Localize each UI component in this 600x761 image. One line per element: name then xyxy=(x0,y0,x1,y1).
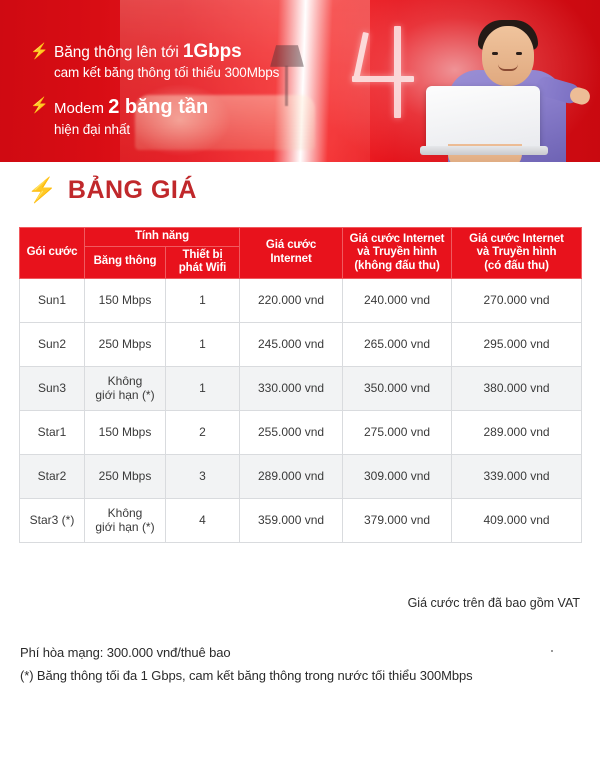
bullet-1-line-2: cam kết băng thông tối thiểu 300Mbps xyxy=(54,63,279,82)
bullet-1-strong: 1Gbps xyxy=(183,41,242,62)
cell-price-internet: 220.000 vnd xyxy=(240,278,343,322)
bullet-2-prefix: Modem xyxy=(54,100,108,117)
banner-bullet-2: ⚡ Modem 2 băng tần hiện đại nhất xyxy=(30,96,330,139)
header-price-internet-line-2: Internet xyxy=(242,253,340,267)
bolt-icon: ⚡ xyxy=(30,98,44,114)
table-row: Sun1150 Mbps1220.000 vnd240.000 vnd270.0… xyxy=(20,278,582,322)
header-wifi-device-line-1: Thiết bị xyxy=(168,249,237,263)
bullet-2-line-2: hiện đại nhất xyxy=(54,120,208,139)
header-price-tv-no-line-3: (không đấu thu) xyxy=(345,260,449,274)
cell-bandwidth: 150 Mbps xyxy=(85,410,166,454)
cell-price-internet: 289.000 vnd xyxy=(240,454,343,498)
cell-price-tv-no-fee: 275.000 vnd xyxy=(343,410,452,454)
banner-bullet-1: ⚡ Băng thông lên tới 1Gbps cam kết băng … xyxy=(30,42,330,82)
bullet-1-line-1: Băng thông lên tới 1Gbps xyxy=(54,42,279,63)
laptop-base-shape xyxy=(420,146,548,155)
header-wifi-device-line-2: phát Wifi xyxy=(168,262,237,276)
section-title-row: ⚡ BẢNG GIÁ xyxy=(27,176,197,205)
eye-right xyxy=(516,52,522,55)
header-wifi-device: Thiết bị phát Wifi xyxy=(166,246,240,278)
footer-notes: Phí hòa mạng: 300.000 vnđ/thuê bao (*) B… xyxy=(20,641,580,687)
cell-price-internet: 330.000 vnd xyxy=(240,366,343,410)
cell-wifi-device: 2 xyxy=(166,410,240,454)
header-row-1: Gói cước Tính năng Giá cước Internet Giá… xyxy=(20,228,582,247)
cell-wifi-device: 1 xyxy=(166,322,240,366)
cell-price-tv-with-fee: 380.000 vnd xyxy=(452,366,582,410)
header-price-tv-no-fee: Giá cước Internet và Truyền hình (không … xyxy=(343,228,452,279)
header-package: Gói cước xyxy=(20,228,85,279)
cell-wifi-device: 1 xyxy=(166,366,240,410)
cell-bandwidth: 250 Mbps xyxy=(85,322,166,366)
cell-price-tv-with-fee: 339.000 vnd xyxy=(452,454,582,498)
cell-bandwidth: Khônggiới hạn (*) xyxy=(85,366,166,410)
vat-note: Giá cước trên đã bao gồm VAT xyxy=(408,596,580,610)
table-row: Star1150 Mbps2255.000 vnd275.000 vnd289.… xyxy=(20,410,582,454)
cell-bandwidth-line-2: giới hạn (*) xyxy=(87,520,163,534)
header-price-internet-line-1: Giá cước xyxy=(242,239,340,253)
cell-price-tv-no-fee: 379.000 vnd xyxy=(343,498,452,542)
cell-price-tv-no-fee: 309.000 vnd xyxy=(343,454,452,498)
cell-package: Star1 xyxy=(20,410,85,454)
cell-price-tv-no-fee: 240.000 vnd xyxy=(343,278,452,322)
footer-note-1: Phí hòa mạng: 300.000 vnđ/thuê bao xyxy=(20,641,580,664)
header-price-internet: Giá cước Internet xyxy=(240,228,343,279)
promo-banner: ⚡ Băng thông lên tới 1Gbps cam kết băng … xyxy=(0,0,600,162)
bolt-icon: ⚡ xyxy=(30,44,44,60)
table-row: Star2250 Mbps3289.000 vnd309.000 vnd339.… xyxy=(20,454,582,498)
table-row: Sun3Khônggiới hạn (*)1330.000 vnd350.000… xyxy=(20,366,582,410)
header-price-tv-no-line-2: và Truyền hình xyxy=(345,246,449,260)
cell-bandwidth-line-1: Không xyxy=(87,506,163,520)
header-price-tv-yes-line-3: (có đấu thu) xyxy=(454,260,579,274)
header-price-tv-with-fee: Giá cước Internet và Truyền hình (có đấu… xyxy=(452,228,582,279)
cell-price-tv-with-fee: 289.000 vnd xyxy=(452,410,582,454)
header-price-tv-yes-line-2: và Truyền hình xyxy=(454,246,579,260)
cell-wifi-device: 3 xyxy=(166,454,240,498)
cell-package: Sun1 xyxy=(20,278,85,322)
cell-bandwidth: Khônggiới hạn (*) xyxy=(85,498,166,542)
bullet-1-prefix: Băng thông lên tới xyxy=(54,44,183,61)
cell-price-tv-with-fee: 409.000 vnd xyxy=(452,498,582,542)
cell-bandwidth: 150 Mbps xyxy=(85,278,166,322)
cell-price-tv-no-fee: 350.000 vnd xyxy=(343,366,452,410)
cell-price-tv-with-fee: 270.000 vnd xyxy=(452,278,582,322)
bullet-2-line-1: Modem 2 băng tần xyxy=(54,96,208,120)
bolt-icon: ⚡ xyxy=(27,179,57,203)
table-row: Sun2250 Mbps1245.000 vnd265.000 vnd295.0… xyxy=(20,322,582,366)
eye-left xyxy=(492,52,498,55)
cell-wifi-device: 1 xyxy=(166,278,240,322)
banner-bullet-list: ⚡ Băng thông lên tới 1Gbps cam kết băng … xyxy=(30,42,330,153)
cell-price-internet: 255.000 vnd xyxy=(240,410,343,454)
cell-price-internet: 359.000 vnd xyxy=(240,498,343,542)
cell-package: Sun2 xyxy=(20,322,85,366)
cell-price-internet: 245.000 vnd xyxy=(240,322,343,366)
header-bandwidth: Băng thông xyxy=(85,246,166,278)
number-four-graphic xyxy=(348,26,428,118)
header-price-tv-yes-line-1: Giá cước Internet xyxy=(454,233,579,247)
bullet-2-strong: 2 băng tần xyxy=(108,96,208,118)
page-title: BẢNG GIÁ xyxy=(68,176,197,205)
footer-note-2: (*) Băng thông tối đa 1 Gbps, cam kết bă… xyxy=(20,664,580,687)
cell-package: Star2 xyxy=(20,454,85,498)
cell-bandwidth: 250 Mbps xyxy=(85,454,166,498)
cell-bandwidth-line-2: giới hạn (*) xyxy=(87,388,163,402)
price-table-head: Gói cước Tính năng Giá cước Internet Giá… xyxy=(20,228,582,279)
cell-bandwidth-line-1: Không xyxy=(87,374,163,388)
table-row: Star3 (*)Khônggiới hạn (*)4359.000 vnd37… xyxy=(20,498,582,542)
face-shape xyxy=(482,26,534,86)
price-table-body: Sun1150 Mbps1220.000 vnd240.000 vnd270.0… xyxy=(20,278,582,542)
person-with-laptop-photo xyxy=(420,14,580,162)
cell-package: Sun3 xyxy=(20,366,85,410)
header-price-tv-no-line-1: Giá cước Internet xyxy=(345,233,449,247)
cell-package: Star3 (*) xyxy=(20,498,85,542)
cell-wifi-device: 4 xyxy=(166,498,240,542)
price-table: Gói cước Tính năng Giá cước Internet Giá… xyxy=(19,227,582,543)
cell-price-tv-no-fee: 265.000 vnd xyxy=(343,322,452,366)
header-features-group: Tính năng xyxy=(85,228,240,247)
cell-price-tv-with-fee: 295.000 vnd xyxy=(452,322,582,366)
laptop-shape xyxy=(426,86,540,150)
